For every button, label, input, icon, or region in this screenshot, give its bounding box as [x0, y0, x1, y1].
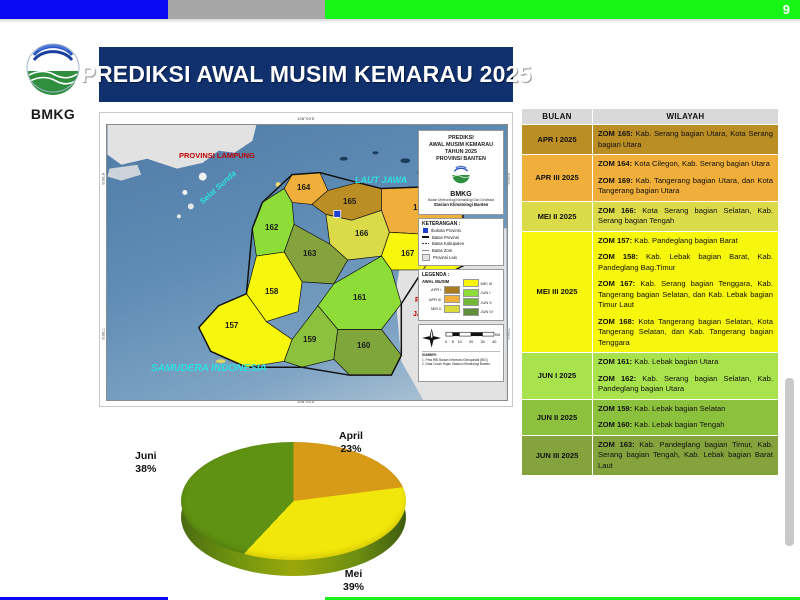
- table-row: MEI II 2025ZOM 166: Kota Serang bagian S…: [522, 201, 779, 231]
- pie-label-juni-name: Juni: [135, 450, 157, 462]
- map-zone-165: 165: [343, 197, 356, 206]
- map-title-box: PREDIKSI AWAL MUSIM KEMARAU TAHUN 2025 P…: [418, 130, 504, 215]
- zom-entry: ZOM 158: Kab. Lebak bagian Barat, Kab. P…: [598, 252, 773, 273]
- legenda-swatch-mei-2: [444, 305, 460, 313]
- legenda-item-mei-3: MEI III: [463, 279, 501, 287]
- table-cell-bulan: JUN III 2025: [522, 435, 593, 476]
- page-title: PREDIKSI AWAL MUSIM KEMARAU 2025: [80, 61, 531, 88]
- table-cell-wilayah: ZOM 166: Kota Serang bagian Selatan, Kab…: [593, 201, 779, 231]
- scrollbar-thumb[interactable]: [785, 378, 794, 546]
- map-zone-164: 164: [297, 183, 310, 192]
- keterangan-item-ibukota: Ibukota Provinsi: [422, 228, 500, 233]
- keterangan-label-batas-kabupaten: Batas Kabupaten: [432, 241, 464, 246]
- legenda-subheading: AWAL MUSIM: [422, 279, 449, 284]
- pie-label-april-percent: 23%: [340, 443, 361, 455]
- zom-entry: ZOM 157: Kab. Pandeglang bagian Barat: [598, 236, 773, 247]
- svg-text:5: 5: [452, 340, 454, 344]
- zom-entry: ZOM 165: Kab. Serang bagian Utara, Kota …: [598, 129, 773, 150]
- strip-segment-gray: [168, 0, 325, 19]
- zom-code: ZOM 158:: [598, 252, 638, 261]
- compass-rose-icon: [422, 328, 441, 348]
- pie-chart-area: April 23% Mei 39% Juni 38%: [99, 420, 513, 598]
- zom-entry: ZOM 161: Kab. Lebak bagian Utara: [598, 357, 773, 368]
- zom-code: ZOM 159:: [598, 404, 632, 413]
- provinsi-lain-swatch-icon: [422, 254, 430, 261]
- table-row: JUN III 2025ZOM 163: Kab. Pandeglang bag…: [522, 435, 779, 476]
- map-canvas[interactable]: PROVINSI LAMPUNG LAUT JAWA Selat Sunda S…: [106, 124, 508, 401]
- map-zone-166: 166: [355, 229, 368, 238]
- legenda-col-left: AWAL MUSIM APR I APR III MEI II: [422, 279, 460, 317]
- zom-code: ZOM 161:: [598, 357, 632, 366]
- map-zone-162: 162: [265, 223, 278, 232]
- map-zone-161: 161: [353, 293, 366, 302]
- map-zone-163: 163: [303, 249, 316, 258]
- zom-entry: ZOM 163: Kab. Pandeglang bagian Timur, K…: [598, 440, 773, 472]
- zom-code: ZOM 164:: [598, 159, 632, 168]
- table-cell-bulan: APR III 2025: [522, 155, 593, 202]
- svg-text:40: 40: [492, 340, 496, 344]
- legenda-label-jun-2: JUN II: [481, 300, 492, 305]
- zom-code: ZOM 166:: [598, 206, 636, 215]
- legenda-label-mei-2: MEI II: [422, 306, 442, 311]
- table-cell-wilayah: ZOM 163: Kab. Pandeglang bagian Timur, K…: [593, 435, 779, 476]
- pie-label-juni: Juni 38%: [135, 450, 157, 476]
- zom-code: ZOM 168:: [598, 317, 634, 326]
- map-title-line2: AWAL MUSIM KEMARAU: [419, 142, 503, 149]
- map-zone-157: 157: [225, 321, 238, 330]
- bmkg-logo-text: BMKG: [12, 106, 94, 122]
- legenda-swatch-jun-2: [463, 298, 479, 306]
- keterangan-item-batas-kabupaten: Batas Kabupaten: [422, 241, 500, 246]
- keterangan-label-batas-provinsi: Batas Provinsi: [432, 235, 459, 240]
- map-coordinate-top: 106°00'E: [100, 116, 512, 121]
- table-cell-wilayah: ZOM 161: Kab. Lebak bagian UtaraZOM 162:…: [593, 353, 779, 400]
- zom-code: ZOM 162:: [598, 374, 636, 383]
- map-panel: 106°00'E 106°00'E 6°00'S 7°00'S 6°00'S 7…: [99, 112, 513, 407]
- legenda-label-apr-3: APR III: [422, 297, 442, 302]
- zom-entry: ZOM 167: Kab. Serang bagian Tenggara, Ka…: [598, 279, 773, 311]
- zom-area: Kab. Pandeglang bagian Barat: [632, 236, 738, 245]
- prediction-table-wrapper: BULAN WILAYAH APR I 2025ZOM 165: Kab. Se…: [521, 108, 779, 476]
- table-row: APR I 2025ZOM 165: Kab. Serang bagian Ut…: [522, 125, 779, 155]
- table-cell-wilayah: ZOM 159: Kab. Lebak bagian SelatanZOM 16…: [593, 399, 779, 435]
- legenda-item-jun-1: JUN I: [463, 289, 501, 297]
- table-cell-bulan: MEI II 2025: [522, 201, 593, 231]
- pie-label-mei: Mei 39%: [343, 568, 364, 594]
- map-bmkg-sub2: Stasiun Klimatologi Banten: [419, 202, 503, 207]
- strip-shadow: [0, 19, 800, 23]
- keterangan-item-batas-zom: Batas Zom: [422, 248, 500, 253]
- legenda-item-jun-3: JUN III: [463, 308, 501, 316]
- pie-label-april-name: April: [339, 430, 363, 442]
- table-row: MEI III 2025ZOM 157: Kab. Pandeglang bag…: [522, 231, 779, 353]
- map-zone-160: 160: [357, 341, 370, 350]
- pie-label-juni-percent: 38%: [135, 463, 156, 475]
- strip-segment-green: [325, 0, 800, 19]
- zom-code: ZOM 160:: [598, 420, 632, 429]
- legenda-swatch-jun-1: [463, 289, 479, 297]
- zom-code: ZOM 165:: [598, 129, 633, 138]
- table-row: APR III 2025ZOM 164: Kota Cilegon, Kab. …: [522, 155, 779, 202]
- legenda-heading: LEGENDA :: [422, 272, 500, 278]
- scale-bar-icon: 0 5 10 20 30 40 KM: [444, 330, 500, 346]
- zom-code: ZOM 163:: [598, 440, 635, 449]
- legenda-item-apr-3: APR III: [422, 295, 460, 303]
- legenda-item-mei-2: MEI II: [422, 305, 460, 313]
- table-cell-bulan: JUN II 2025: [522, 399, 593, 435]
- zom-area: Kab. Lebak bagian Utara: [632, 357, 718, 366]
- zom-code: ZOM 169:: [598, 176, 633, 185]
- page-title-bar: PREDIKSI AWAL MUSIM KEMARAU 2025: [99, 47, 513, 102]
- batas-kabupaten-dash-icon: [422, 243, 429, 244]
- keterangan-item-provinsi-lain: Provinsi Lain: [422, 254, 500, 261]
- svg-text:20: 20: [469, 340, 473, 344]
- table-cell-bulan: JUN I 2025: [522, 353, 593, 400]
- batas-provinsi-line-icon: [422, 236, 429, 238]
- pie-chart[interactable]: [181, 442, 406, 568]
- map-title-line4: PROVINSI BANTEN: [419, 156, 503, 163]
- batas-zom-line-icon: [422, 250, 429, 251]
- svg-text:KM: KM: [495, 333, 500, 337]
- prediction-table: BULAN WILAYAH APR I 2025ZOM 165: Kab. Se…: [521, 108, 779, 476]
- map-bmkg-logo-icon: [448, 165, 474, 185]
- zom-entry: ZOM 166: Kota Serang bagian Selatan, Kab…: [598, 206, 773, 227]
- ibukota-swatch-icon: [423, 228, 428, 233]
- zom-area: Kab. Lebak bagian Tengah: [632, 420, 724, 429]
- legenda-item-jun-2: JUN II: [463, 298, 501, 306]
- keterangan-heading: KETERANGAN :: [422, 221, 500, 227]
- table-row: JUN II 2025ZOM 159: Kab. Lebak bagian Se…: [522, 399, 779, 435]
- keterangan-label-batas-zom: Batas Zom: [432, 248, 452, 253]
- zom-entry: ZOM 160: Kab. Lebak bagian Tengah: [598, 420, 773, 431]
- svg-text:10: 10: [458, 340, 462, 344]
- table-body: APR I 2025ZOM 165: Kab. Serang bagian Ut…: [522, 125, 779, 476]
- top-color-strip: 9: [0, 0, 800, 19]
- zom-entry: ZOM 169: Kab. Tangerang bagian Utara, da…: [598, 176, 773, 197]
- table-cell-bulan: APR I 2025: [522, 125, 593, 155]
- pie-label-mei-percent: 39%: [343, 581, 364, 593]
- map-scale-box: 0 5 10 20 30 40 KM SUMBER: 1. Peta RBI B…: [418, 324, 504, 382]
- map-keterangan-box: KETERANGAN : Ibukota Provinsi Batas Prov…: [418, 218, 504, 266]
- map-legenda-box: LEGENDA : AWAL MUSIM APR I APR III: [418, 269, 504, 321]
- map-title-line1: PREDIKSI: [419, 135, 503, 142]
- keterangan-item-batas-provinsi: Batas Provinsi: [422, 235, 500, 240]
- pie-label-mei-name: Mei: [345, 568, 363, 580]
- zom-code: ZOM 167:: [598, 279, 635, 288]
- zom-entry: ZOM 168: Kota Tangerang bagian Selatan, …: [598, 317, 773, 349]
- table-header-bulan: BULAN: [522, 109, 593, 125]
- legenda-subheading-row: AWAL MUSIM: [422, 279, 460, 284]
- legenda-col-right: MEI III JUN I JUN II JUN III: [463, 279, 501, 317]
- map-zone-159: 159: [303, 335, 316, 344]
- keterangan-label-provinsi-lain: Provinsi Lain: [433, 255, 457, 260]
- legenda-label-mei-3: MEI III: [481, 281, 493, 286]
- zom-area: Kota Cilegon, Kab. Serang bagian Utara: [632, 159, 770, 168]
- table-cell-wilayah: ZOM 164: Kota Cilegon, Kab. Serang bagia…: [593, 155, 779, 202]
- table-cell-wilayah: ZOM 157: Kab. Pandeglang bagian BaratZOM…: [593, 231, 779, 353]
- map-zone-167: 167: [401, 249, 414, 258]
- map-source-2: 2. Data Curah Hujan Stasiun Klimatologi …: [422, 362, 500, 367]
- legenda-swatch-mei-3: [463, 279, 479, 287]
- page-number: 9: [783, 0, 790, 19]
- zom-entry: ZOM 164: Kota Cilegon, Kab. Serang bagia…: [598, 159, 773, 170]
- table-header-row: BULAN WILAYAH: [522, 109, 779, 125]
- legenda-label-jun-3: JUN III: [481, 309, 493, 314]
- map-bmkg-text: BMKG: [419, 191, 503, 198]
- legenda-swatch-jun-3: [463, 308, 479, 316]
- legenda-item-apr-1: APR I: [422, 286, 460, 294]
- svg-text:30: 30: [481, 340, 485, 344]
- strip-segment-blue: [0, 0, 168, 19]
- table-cell-wilayah: ZOM 165: Kab. Serang bagian Utara, Kota …: [593, 125, 779, 155]
- table-header-wilayah: WILAYAH: [593, 109, 779, 125]
- pie-3d-top: [181, 442, 406, 560]
- zom-entry: ZOM 162: Kab. Serang bagian Selatan, Kab…: [598, 374, 773, 395]
- zom-area: Kab. Lebak bagian Selatan: [632, 404, 725, 413]
- legenda-swatch-apr-1: [444, 286, 460, 294]
- zom-code: ZOM 157:: [598, 236, 632, 245]
- table-cell-bulan: MEI III 2025: [522, 231, 593, 353]
- pie-label-april: April 23%: [339, 430, 363, 456]
- table-row: JUN I 2025ZOM 161: Kab. Lebak bagian Uta…: [522, 353, 779, 400]
- map-zone-158: 158: [265, 287, 278, 296]
- bmkg-logo-icon: [20, 42, 86, 100]
- legenda-swatch-apr-3: [444, 295, 460, 303]
- legenda-label-jun-1: JUN I: [481, 290, 491, 295]
- vertical-scrollbar[interactable]: [785, 330, 794, 580]
- keterangan-label-ibukota: Ibukota Provinsi: [431, 228, 461, 233]
- map-title-line3: TAHUN 2025: [419, 149, 503, 156]
- legenda-label-apr-1: APR I: [422, 287, 442, 292]
- svg-text:0: 0: [445, 340, 447, 344]
- zom-entry: ZOM 159: Kab. Lebak bagian Selatan: [598, 404, 773, 415]
